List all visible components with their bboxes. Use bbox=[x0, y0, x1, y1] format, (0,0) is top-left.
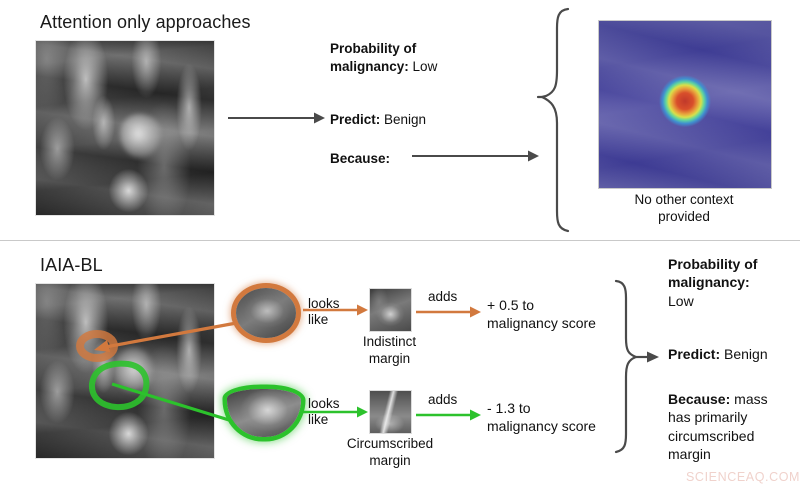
bottom-predict-block: Predict: Benign bbox=[668, 345, 796, 363]
heatmap-caption-line2: provided bbox=[586, 209, 782, 226]
figure-root: Attention only approaches Probability of… bbox=[0, 0, 800, 489]
top-probability-value: Low bbox=[413, 59, 438, 74]
bottom-because-value-line3: circumscribed bbox=[668, 427, 800, 445]
top-probability-label2: malignancy: bbox=[330, 59, 409, 74]
green-adds-arrow bbox=[416, 408, 482, 422]
orange-zoomed-patch bbox=[232, 285, 302, 343]
top-predict-label: Predict: bbox=[330, 112, 380, 127]
bottom-because-block: Because: mass has primarily circumscribe… bbox=[668, 390, 800, 464]
bottom-curly-brace bbox=[614, 278, 660, 454]
indistinct-margin-prototype-image bbox=[369, 288, 412, 332]
circumscribed-margin-caption: Circumscribed margin bbox=[327, 436, 453, 470]
top-curly-brace bbox=[538, 6, 572, 232]
top-predict-block: Predict: Benign bbox=[330, 111, 540, 129]
heatmap-caption-line1: No other context bbox=[586, 192, 782, 209]
top-because-label: Because: bbox=[330, 151, 390, 166]
top-probability-label: Probability of bbox=[330, 41, 416, 56]
top-flow-arrow bbox=[228, 110, 328, 126]
orange-pointer-arrow bbox=[90, 320, 250, 360]
green-zoomed-patch bbox=[222, 385, 308, 447]
top-probability-block: Probability of malignancy: Low bbox=[330, 40, 540, 76]
orange-patch-circle bbox=[236, 288, 296, 338]
top-because-arrow bbox=[412, 148, 542, 164]
panel-divider bbox=[0, 240, 800, 241]
circumscribed-margin-prototype-image bbox=[369, 390, 412, 434]
bottom-because-value-line4: margin bbox=[668, 445, 800, 463]
bottom-panel-title: IAIA-BL bbox=[40, 255, 103, 276]
watermark: SCIENCEAQ.COM bbox=[686, 470, 800, 484]
heatmap-caption: No other context provided bbox=[586, 192, 782, 226]
green-patch-blob bbox=[227, 389, 301, 437]
green-looks-like-arrow bbox=[303, 405, 369, 419]
orange-adds-label: adds bbox=[428, 289, 457, 304]
orange-looks-like-arrow bbox=[303, 303, 369, 317]
top-predict-value: Benign bbox=[384, 112, 426, 127]
bottom-probability-label: Probability of bbox=[668, 256, 757, 272]
bottom-because-label: Because: bbox=[668, 391, 730, 407]
bottom-predict-label: Predict: bbox=[668, 346, 720, 362]
mass-region bbox=[120, 114, 161, 158]
top-panel-title: Attention only approaches bbox=[40, 12, 251, 33]
bottom-mammogram-image bbox=[35, 283, 215, 459]
bottom-because-value-line2: has primarily bbox=[668, 408, 800, 426]
green-score-text: - 1.3 to malignancy score bbox=[487, 399, 596, 435]
mammogram-annotation-overlay bbox=[36, 284, 214, 458]
bottom-probability-value: Low bbox=[668, 292, 796, 310]
orange-adds-arrow bbox=[416, 305, 482, 319]
bottom-predict-value: Benign bbox=[724, 346, 768, 362]
bottom-probability-block: Probability of malignancy: Low bbox=[668, 255, 796, 310]
green-adds-label: adds bbox=[428, 392, 457, 407]
attention-heatmap-image bbox=[598, 20, 772, 189]
indistinct-margin-caption: Indistinct margin bbox=[337, 334, 442, 368]
top-mammogram-image bbox=[35, 40, 215, 216]
bottom-because-value-line1: mass bbox=[734, 391, 767, 407]
bottom-probability-label2: malignancy: bbox=[668, 274, 750, 290]
orange-score-text: + 0.5 to malignancy score bbox=[487, 296, 596, 332]
